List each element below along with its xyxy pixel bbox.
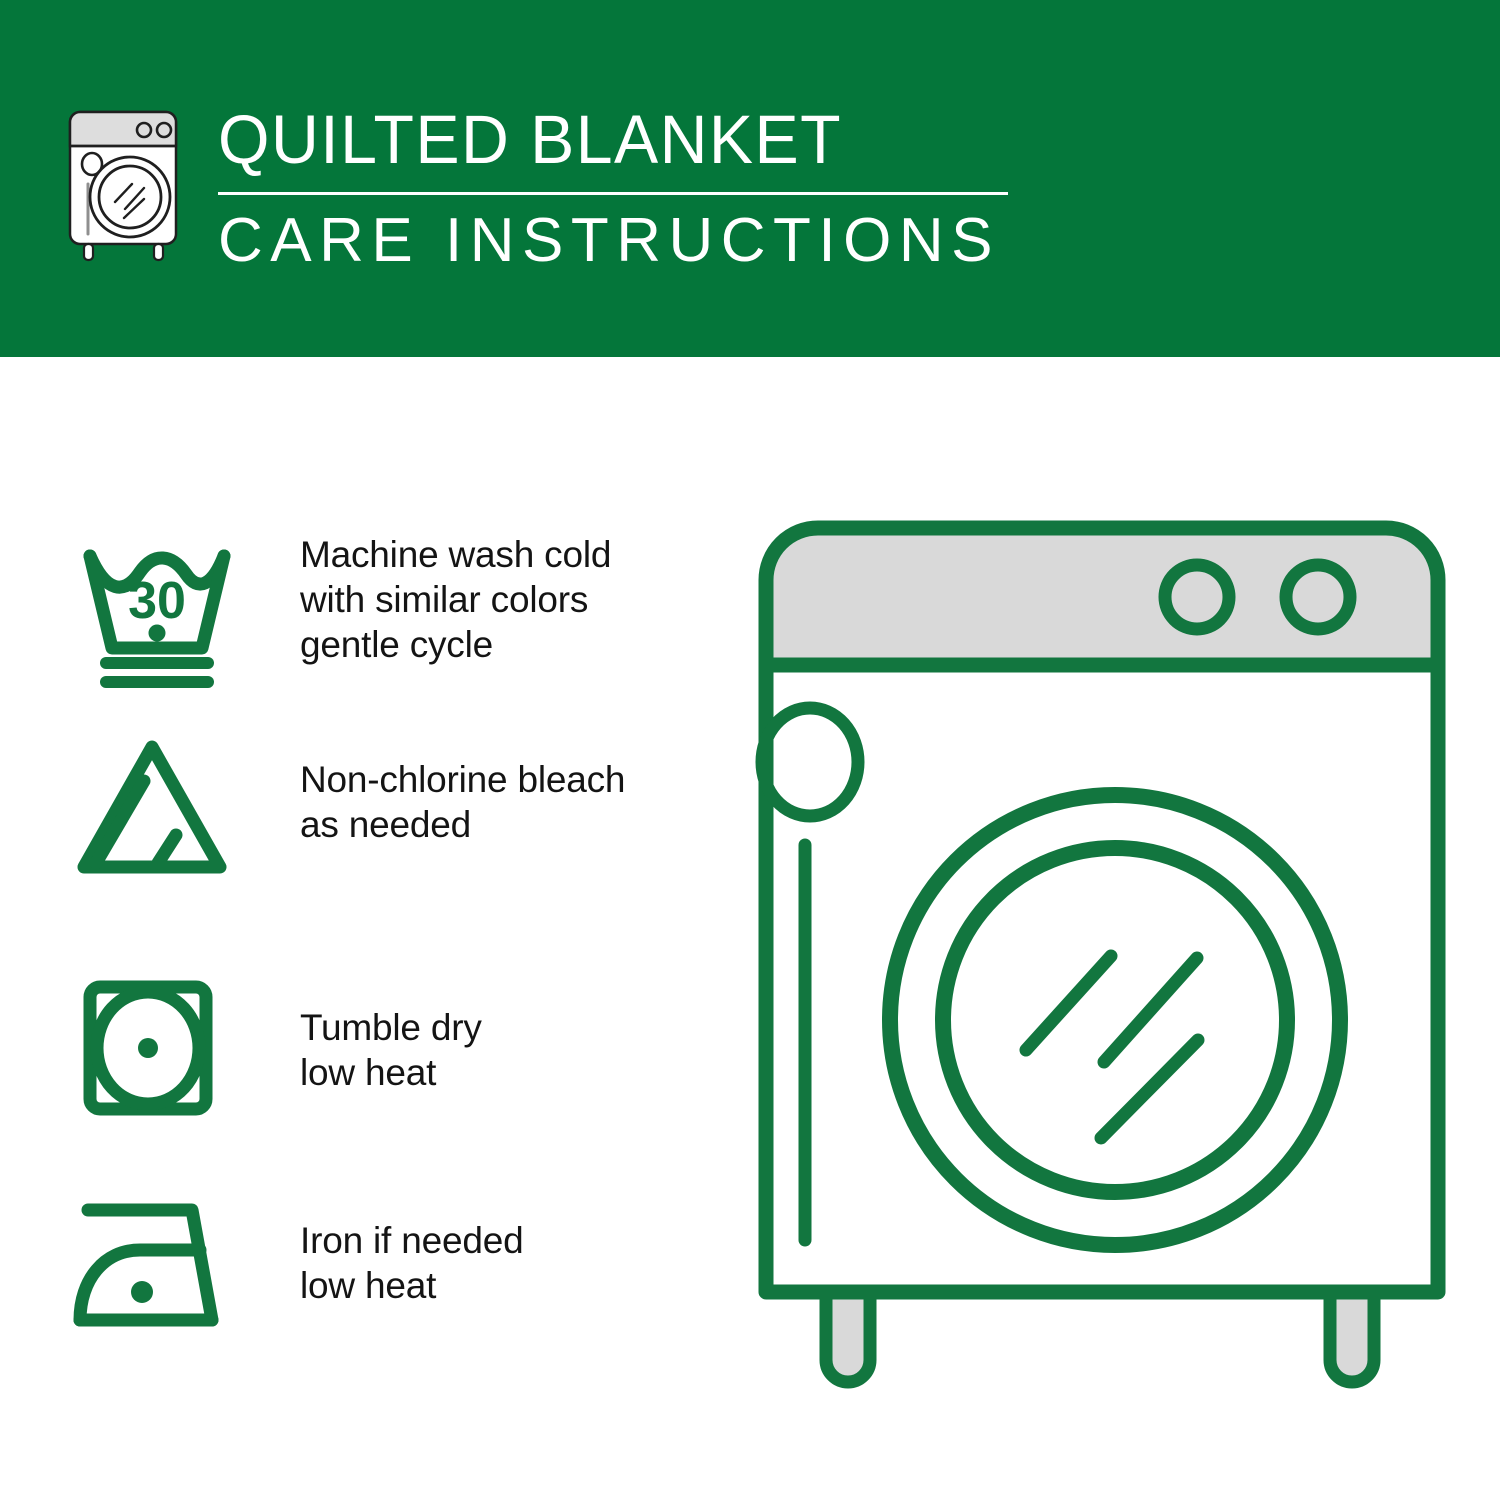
drum-outer-circle <box>890 795 1340 1245</box>
care-instructions-infographic: QUILTED BLANKET CARE INSTRUCTIONS <box>0 0 1500 1500</box>
machine-leg-left <box>826 1292 870 1382</box>
iron-low-heat-icon <box>72 1188 242 1358</box>
care-text-bleach: Non-chlorine bleach as needed <box>300 757 625 847</box>
care-text-iron: Iron if needed low heat <box>300 1218 523 1308</box>
header-title-block: QUILTED BLANKET CARE INSTRUCTIONS <box>218 100 1018 277</box>
title-divider <box>218 192 1008 195</box>
wash-temperature-value: 30 <box>128 572 186 630</box>
wash-tub-30-gentle-icon: 30 <box>72 520 242 690</box>
page-subtitle: CARE INSTRUCTIONS <box>218 205 1018 277</box>
washing-machine-icon <box>62 104 192 264</box>
detergent-drawer-icon <box>762 708 858 816</box>
drum-slashes <box>1026 956 1198 1138</box>
non-chlorine-bleach-triangle-icon <box>72 725 242 895</box>
care-text-wash: Machine wash cold with similar colors ge… <box>300 532 611 667</box>
header-banner: QUILTED BLANKET CARE INSTRUCTIONS <box>0 0 1500 357</box>
care-text-tumble-dry: Tumble dry low heat <box>300 1005 482 1095</box>
page-title: QUILTED BLANKET <box>218 100 986 180</box>
tumble-dry-low-heat-icon <box>72 965 242 1135</box>
control-panel-fill <box>766 528 1438 665</box>
front-load-washing-machine-illustration <box>730 490 1470 1420</box>
drum-inner-circle <box>943 848 1287 1192</box>
machine-leg-right <box>1330 1292 1374 1382</box>
